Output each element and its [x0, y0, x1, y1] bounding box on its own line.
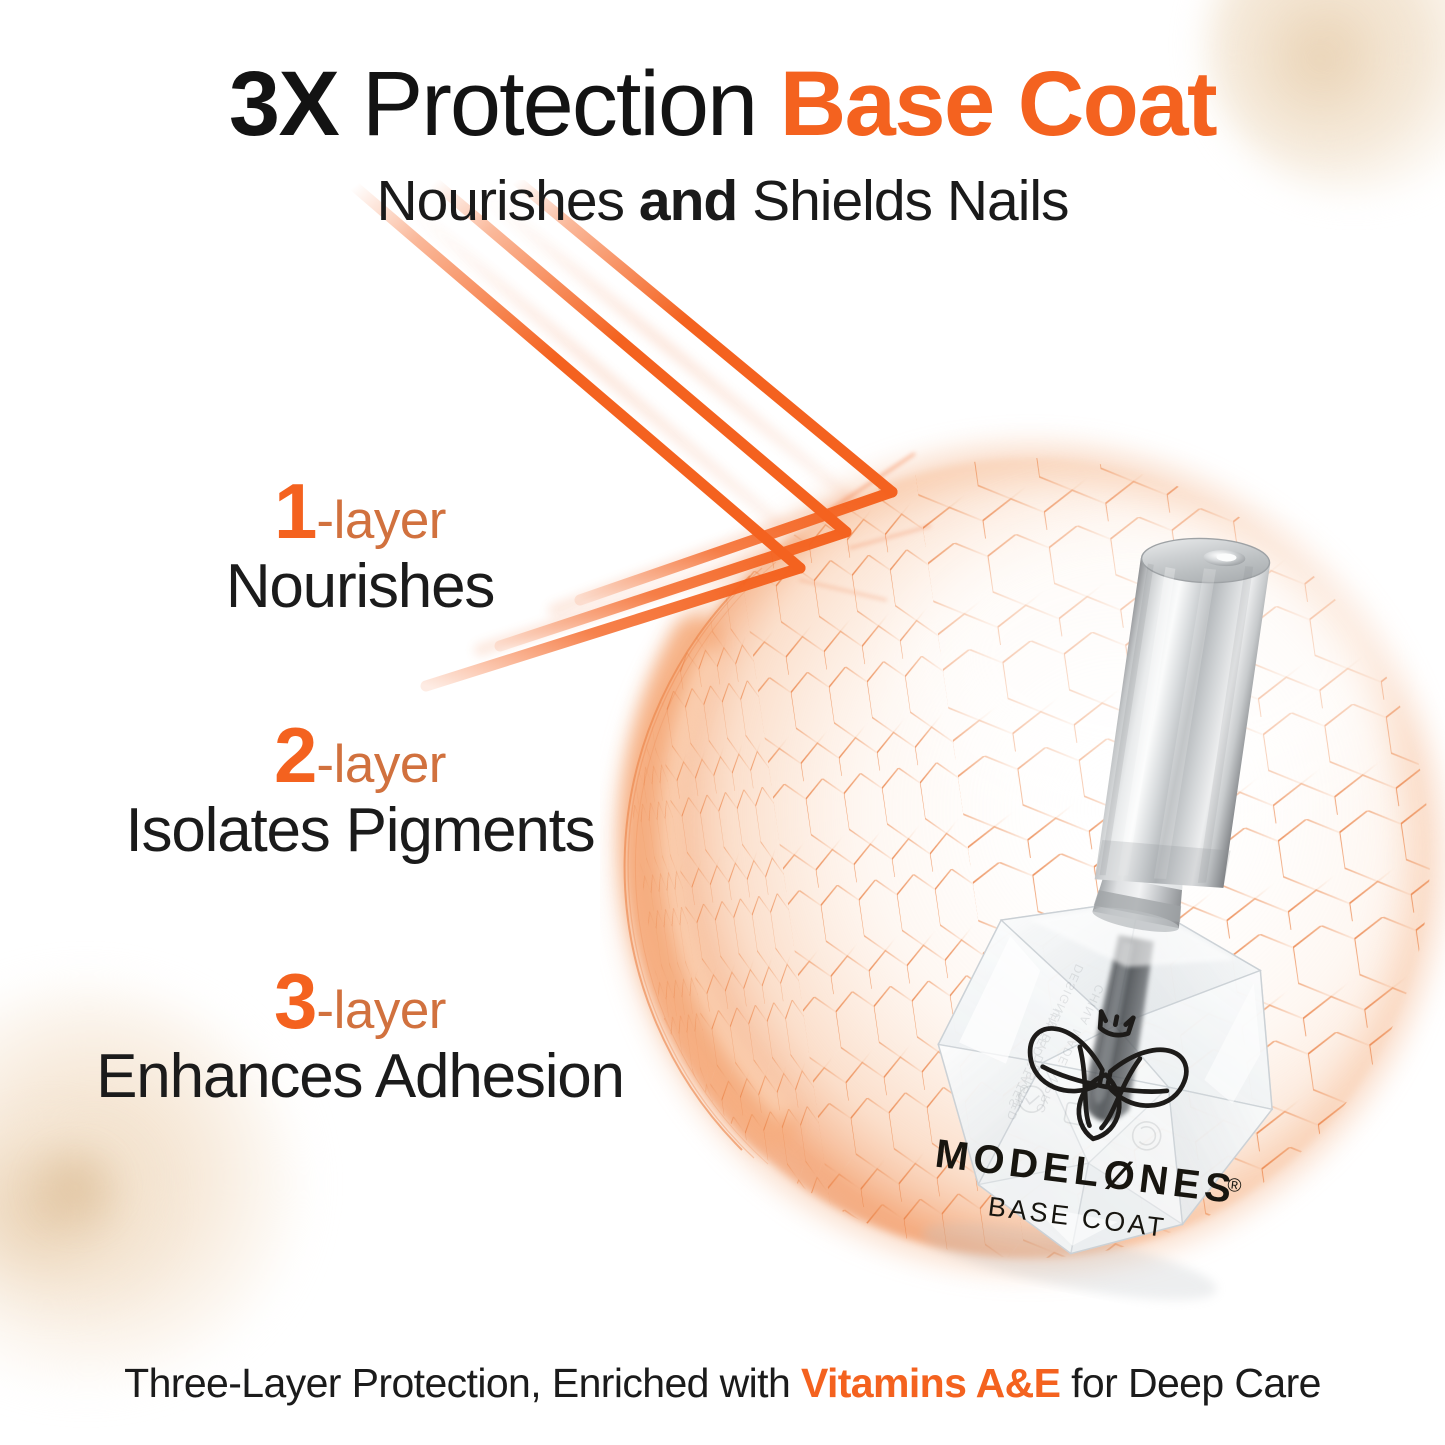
deflected-light-rays [330, 180, 950, 720]
feature-2-number: 2 [274, 711, 316, 799]
feature-1-heading: 1-layer [0, 472, 720, 550]
product-type: BASE COAT [986, 1191, 1168, 1243]
feature-item-1: 1-layer Nourishes [0, 472, 720, 621]
page-title: 3X Protection Base Coat [0, 56, 1445, 154]
headline-part1: 3X [229, 53, 339, 155]
svg-text:MADE IN PRC: MADE IN PRC [1033, 1027, 1085, 1116]
subtitle: Nourishes and Shields Nails [0, 168, 1445, 234]
bottle-back-print: DESIGNED BY CHINA UNITED STATES MADE IN … [1002, 954, 1111, 1135]
footer-part1: Three-Layer Protection, Enriched with [124, 1360, 801, 1406]
product-label: MODELØNES ® BASE COAT [923, 985, 1270, 1267]
feature-2-description: Isolates Pigments [0, 796, 720, 865]
feature-3-layer-label: -layer [316, 981, 446, 1040]
product-bottle: DESIGNED BY CHINA UNITED STATES MADE IN … [838, 468, 1438, 1348]
svg-text:CHINA: CHINA [1076, 982, 1107, 1027]
background-blob-bottom-left-inner [0, 1105, 170, 1315]
subtitle-part2: Shields Nails [737, 169, 1068, 233]
footer-part2: for Deep Care [1060, 1360, 1321, 1406]
svg-text:DESIGNED: DESIGNED [1003, 1052, 1046, 1123]
headline-accent: Base Coat [780, 53, 1216, 155]
background-blob-bottom-left-core [20, 1140, 130, 1235]
subtitle-bold: and [639, 169, 737, 233]
footer-caption: Three-Layer Protection, Enriched with Vi… [0, 1360, 1445, 1407]
svg-text:DESIGNED BY: DESIGNED BY [1034, 962, 1087, 1054]
brand-name: MODELØNES [933, 1132, 1239, 1213]
brand-text-group: MODELØNES ® BASE COAT [923, 1111, 1245, 1268]
subtitle-part1: Nourishes [376, 169, 638, 233]
feature-item-2: 2-layer Isolates Pigments [0, 716, 720, 865]
applicator-brush [1079, 934, 1162, 1126]
svg-text:UNITED STATES: UNITED STATES [1005, 1007, 1064, 1111]
butterfly-crown-logo [1016, 1000, 1195, 1154]
feature-3-description: Enhances Adhesion [0, 1042, 720, 1111]
feature-item-3: 3-layer Enhances Adhesion [0, 962, 720, 1111]
headline-part2: Protection [338, 53, 779, 155]
promo-graphic: 3X Protection Base Coat Nourishes and Sh… [0, 0, 1445, 1445]
bottle-glass-body: DESIGNED BY CHINA UNITED STATES MADE IN … [897, 868, 1306, 1320]
feature-2-heading: 2-layer [0, 716, 720, 794]
bottle-neck-collar [1091, 858, 1189, 937]
feature-3-heading: 3-layer [0, 962, 720, 1040]
headline-block: 3X Protection Base Coat Nourishes and Sh… [0, 56, 1445, 234]
feature-1-number: 1 [274, 467, 316, 555]
bottle-symbols [1013, 1084, 1165, 1152]
feature-1-description: Nourishes [0, 552, 720, 621]
registered-mark: ® [1226, 1175, 1242, 1198]
footer-accent: Vitamins A&E [801, 1360, 1060, 1406]
protective-shield-sphere [600, 408, 1445, 1308]
feature-2-layer-label: -layer [316, 735, 446, 794]
bottle-cap [1076, 517, 1290, 904]
feature-1-layer-label: -layer [316, 491, 446, 550]
feature-3-number: 3 [274, 957, 316, 1045]
